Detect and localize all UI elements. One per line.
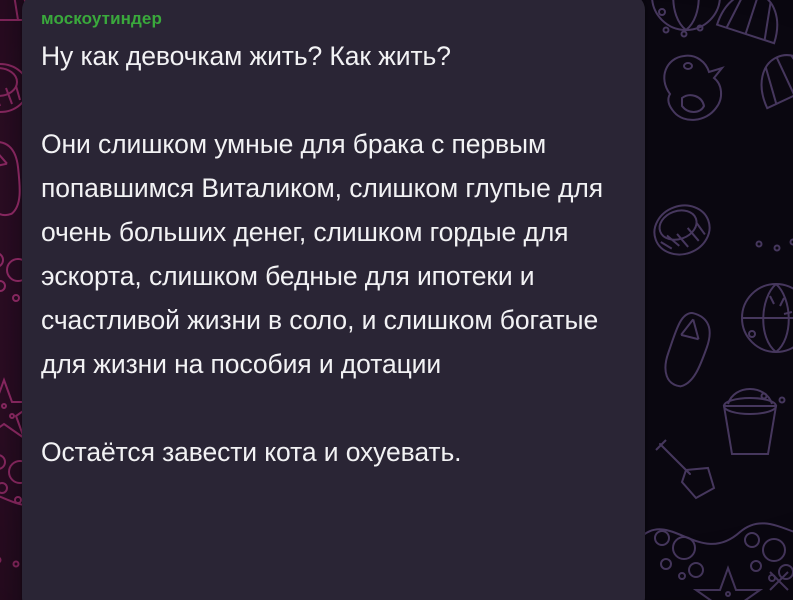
message-bubble[interactable]: москоутиндер Ну как девочкам жить? Как ж… — [22, 0, 645, 600]
telegram-chat-screen: москоутиндер Ну как девочкам жить? Как ж… — [0, 0, 793, 600]
message-text: Ну как девочкам жить? Как жить? Они слиш… — [40, 34, 627, 474]
message-sender-name[interactable]: москоутиндер — [40, 8, 627, 30]
